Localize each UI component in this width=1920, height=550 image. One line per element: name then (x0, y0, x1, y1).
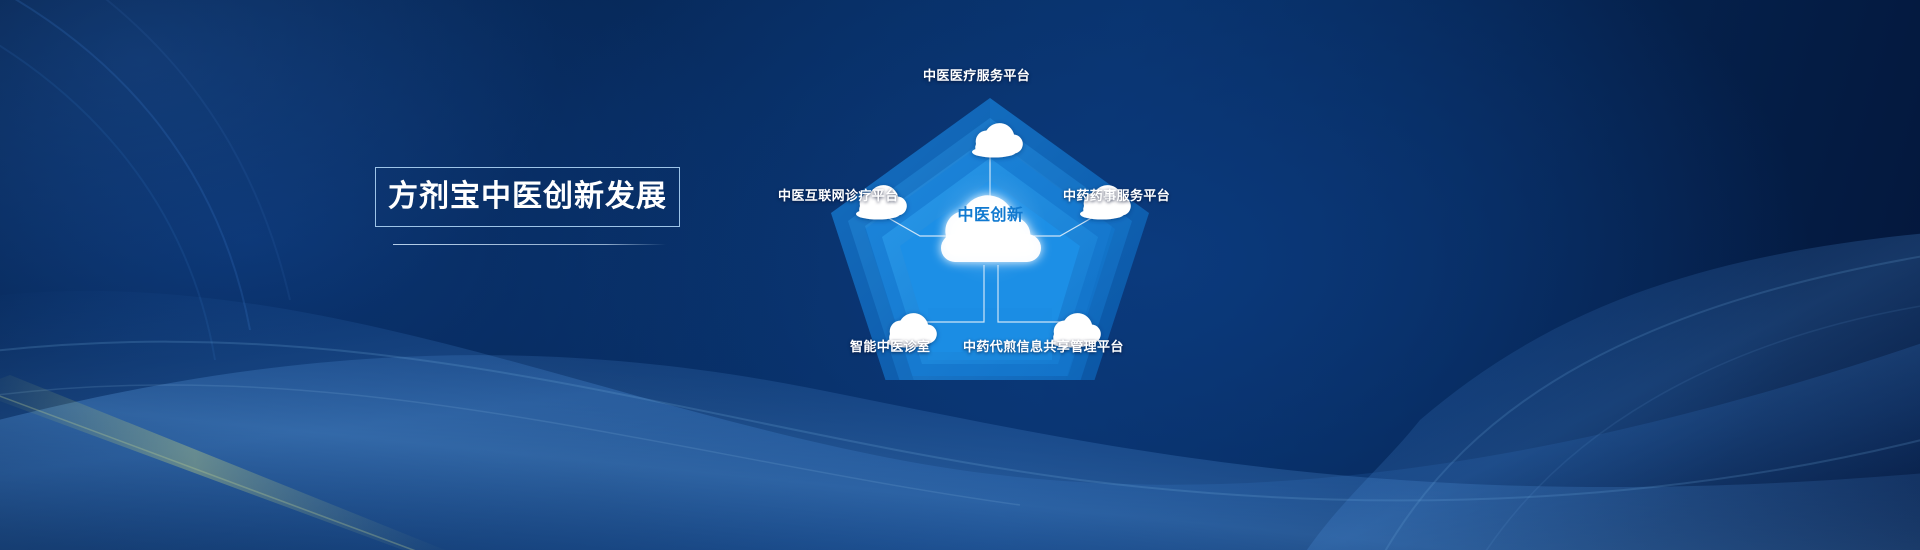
title-block: 方剂宝中医创新发展 (375, 167, 680, 245)
pentagon-diagram: 中医医疗服务平台 中药药事服务平台 中药代煎信息共享管理平台 智能中医诊室 中医… (760, 40, 1280, 380)
page-title: 方剂宝中医创新发展 (388, 182, 667, 212)
node-label-top: 中医医疗服务平台 (923, 65, 1030, 84)
banner-stage: 方剂宝中医创新发展 (0, 0, 1920, 550)
node-label-bottom-right: 中药代煎信息共享管理平台 (963, 336, 1124, 355)
title-underline (393, 244, 666, 245)
center-node-label: 中医创新 (938, 200, 1043, 226)
title-box: 方剂宝中医创新发展 (375, 167, 680, 227)
node-label-right: 中药药事服务平台 (1063, 185, 1170, 204)
node-label-bottom-left: 智能中医诊室 (850, 336, 930, 355)
node-label-left: 中医互联网诊疗平台 (778, 185, 899, 204)
